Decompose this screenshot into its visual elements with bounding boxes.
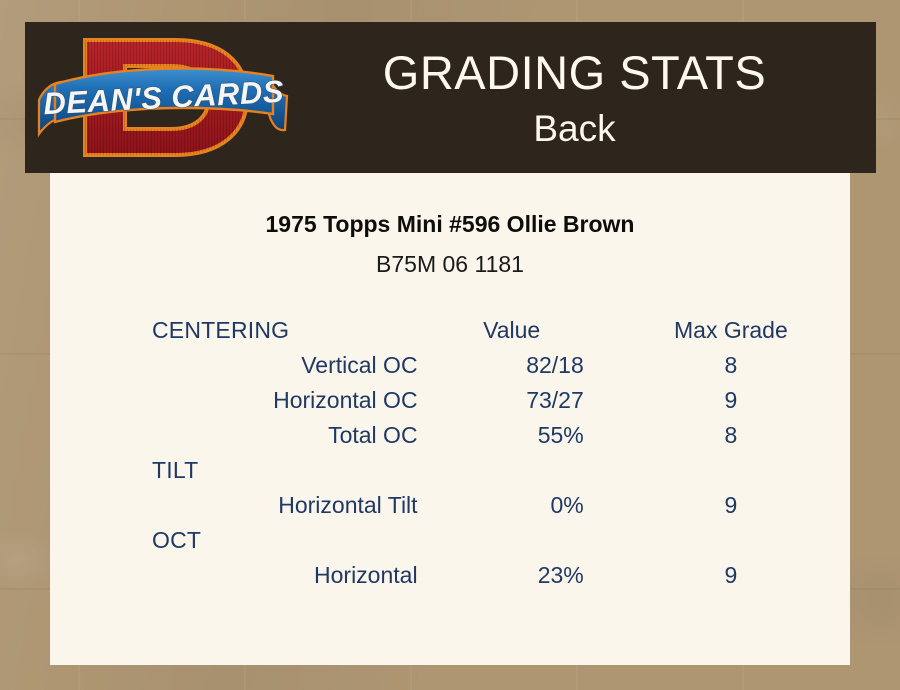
section-header-oct: OCT	[50, 523, 418, 558]
card-serial-number: B75M 06 1181	[50, 251, 850, 278]
content-panel: 1975 Topps Mini #596 Ollie Brown B75M 06…	[50, 173, 850, 665]
row-label-total-oc: Total OC	[50, 418, 418, 453]
table-row: Horizontal Tilt 0% 9	[50, 488, 850, 523]
header-title-block: GRADING STATS Back	[295, 49, 876, 147]
section-header-tilt: TILT	[50, 453, 418, 488]
table-row: Horizontal 23% 9	[50, 558, 850, 593]
row-label-horizontal-oct: Horizontal	[50, 558, 418, 593]
deans-cards-logo[interactable]: DEAN'S CARDS	[25, 22, 295, 173]
table-header: CENTERING Value Max Grade	[50, 313, 850, 348]
table-section-row-tilt: TILT	[50, 453, 850, 488]
row-label-vertical-oc: Vertical OC	[50, 348, 418, 383]
table-row: Total OC 55% 8	[50, 418, 850, 453]
grading-stats-table: CENTERING Value Max Grade Vertical OC 82…	[50, 313, 850, 593]
row-grade-vertical-oc: 8	[634, 348, 850, 383]
row-label-horizontal-tilt: Horizontal Tilt	[50, 488, 418, 523]
column-header-max-grade: Max Grade	[634, 313, 850, 348]
section-header-oct-value-spacer	[418, 523, 634, 558]
row-grade-horizontal-tilt: 9	[634, 488, 850, 523]
page-title: GRADING STATS	[295, 49, 854, 96]
row-value-horizontal-oc: 73/27	[418, 383, 634, 418]
row-value-total-oc: 55%	[418, 418, 634, 453]
table-section-row-oct: OCT	[50, 523, 850, 558]
row-grade-total-oc: 8	[634, 418, 850, 453]
section-header-oct-grade-spacer	[634, 523, 850, 558]
table-header-row: CENTERING Value Max Grade	[50, 313, 850, 348]
section-header-tilt-value-spacer	[418, 453, 634, 488]
grading-stats-window: DEAN'S CARDS GRADING STATS Back 1975 Top…	[0, 0, 900, 690]
row-label-horizontal-oc: Horizontal OC	[50, 383, 418, 418]
table-row: Horizontal OC 73/27 9	[50, 383, 850, 418]
column-header-value: Value	[418, 313, 634, 348]
page-subtitle: Back	[295, 110, 854, 147]
header-bar: DEAN'S CARDS GRADING STATS Back	[25, 22, 876, 173]
card-title: 1975 Topps Mini #596 Ollie Brown	[50, 211, 850, 238]
row-value-horizontal-oct: 23%	[418, 558, 634, 593]
row-grade-horizontal-oct: 9	[634, 558, 850, 593]
section-header-tilt-grade-spacer	[634, 453, 850, 488]
row-grade-horizontal-oc: 9	[634, 383, 850, 418]
column-header-centering: CENTERING	[50, 313, 418, 348]
row-value-horizontal-tilt: 0%	[418, 488, 634, 523]
table-body: Vertical OC 82/18 8 Horizontal OC 73/27 …	[50, 348, 850, 593]
row-value-vertical-oc: 82/18	[418, 348, 634, 383]
table-row: Vertical OC 82/18 8	[50, 348, 850, 383]
